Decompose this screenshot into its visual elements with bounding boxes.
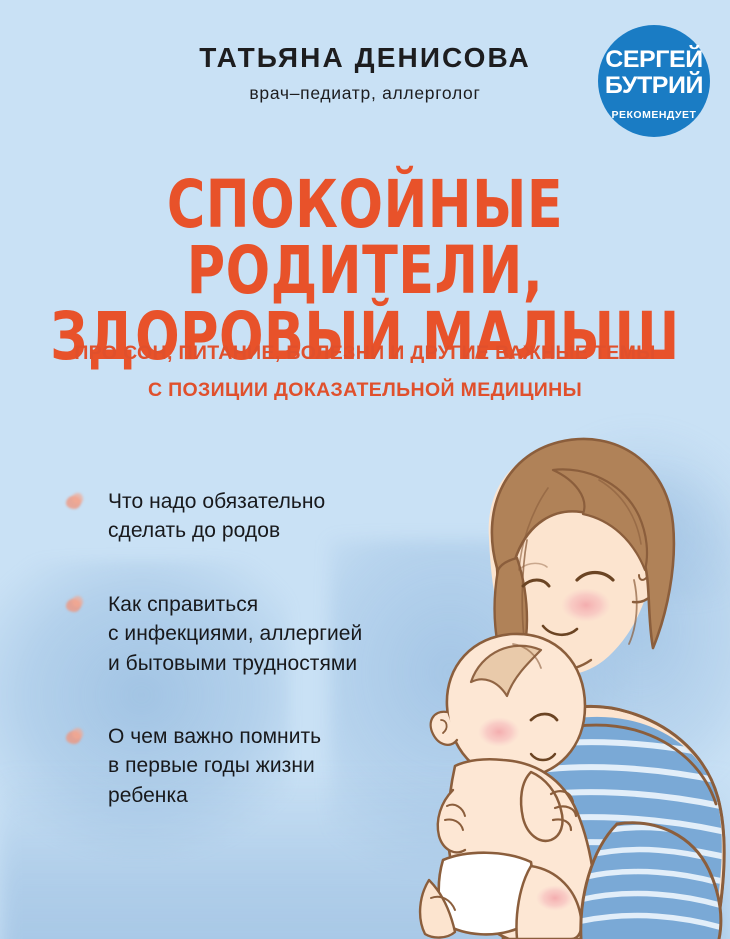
bullet-text: О чем важно помнить в первые годы жизни … (108, 722, 418, 810)
bullet-line: Как справиться (108, 590, 418, 619)
book-subtitle-line-2: С ПОЗИЦИИ ДОКАЗАТЕЛЬНОЙ МЕДИЦИНЫ (0, 381, 730, 401)
bullet-line: и бытовыми трудностями (108, 649, 418, 678)
bullet-line: О чем важно помнить (108, 722, 418, 751)
bullet-line: в первые годы жизни (108, 751, 418, 780)
bullet-text: Что надо обязательно сделать до родов (108, 487, 418, 546)
bullet-line: с инфекциями, аллергией (108, 619, 418, 648)
bullet-text: Как справиться с инфекциями, аллергией и… (108, 590, 418, 678)
paw-blob-icon (64, 493, 86, 515)
list-item: О чем важно помнить в первые годы жизни … (58, 722, 418, 810)
bullet-line: сделать до родов (108, 516, 418, 545)
bullet-line: ребенка (108, 781, 418, 810)
paw-blob-icon (64, 728, 86, 750)
paw-blob-icon (64, 596, 86, 618)
book-cover: ТАТЬЯНА ДЕНИСОВА врач–педиатр, аллерголо… (0, 0, 730, 939)
feature-bullet-list: Что надо обязательно сделать до родов Ка… (58, 487, 418, 854)
book-subtitle-line-1: ПРО СОН, ПИТАНИЕ, БОЛЕЗНИ И ДРУГИЕ ВАЖНЫ… (0, 344, 730, 364)
mother-and-baby-illustration (385, 420, 730, 939)
book-title: СПОКОЙНЫЕ РОДИТЕЛИ, ЗДОРОВЫЙ МАЛЫШ (0, 172, 730, 358)
list-item: Что надо обязательно сделать до родов (58, 487, 418, 546)
bullet-line: Что надо обязательно (108, 487, 418, 516)
book-subtitle: ПРО СОН, ПИТАНИЕ, БОЛЕЗНИ И ДРУГИЕ ВАЖНЫ… (0, 344, 730, 400)
recommendation-badge (598, 25, 710, 137)
book-title-line-1: СПОКОЙНЫЕ РОДИТЕЛИ, (11, 172, 719, 304)
list-item: Как справиться с инфекциями, аллергией и… (58, 590, 418, 678)
